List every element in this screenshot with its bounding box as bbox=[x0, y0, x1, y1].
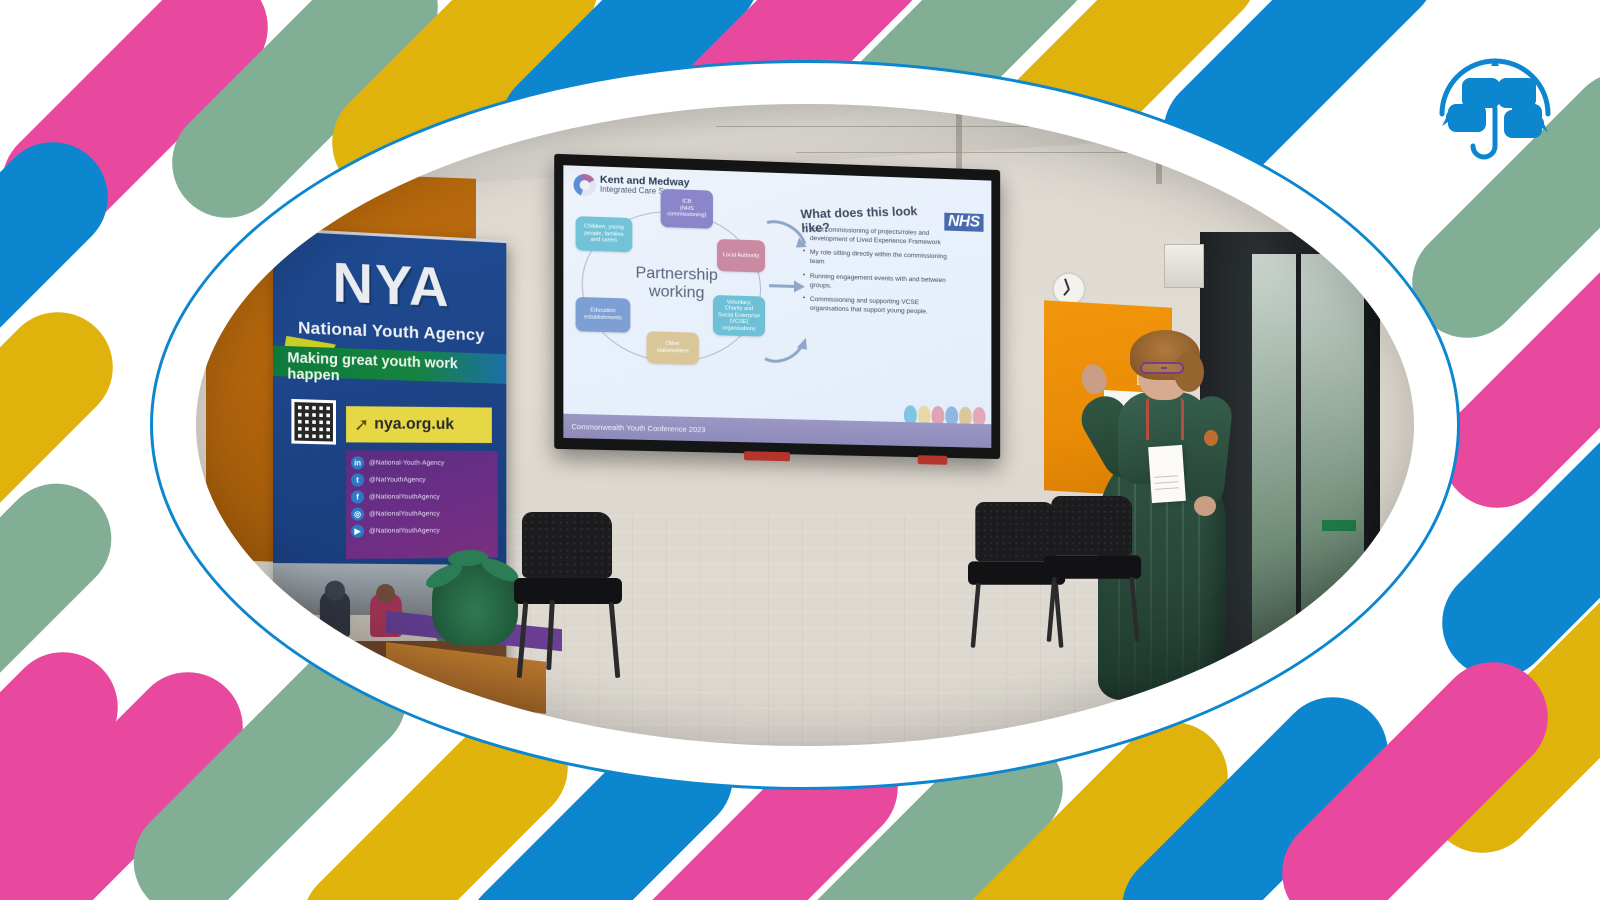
website-pill: ➚ nya.org.uk bbox=[346, 406, 492, 443]
list-item: Commissioning and supporting VCSE organi… bbox=[803, 296, 959, 318]
screen-sensor-bar bbox=[744, 451, 790, 461]
presenter-hand bbox=[1079, 362, 1110, 397]
node-other: Other stakeholders bbox=[647, 331, 699, 365]
node-vcse: Voluntary, Charity and Social Enterprise… bbox=[713, 295, 765, 337]
slide-footer-text: Commonwealth Youth Conference 2023 bbox=[572, 421, 706, 433]
door-mullion bbox=[1296, 254, 1301, 654]
umbrella-speech-bubbles-logo bbox=[1430, 42, 1560, 166]
qr-code-icon bbox=[291, 399, 336, 445]
slide-content: Kent and Medway Integrated Care System N… bbox=[563, 165, 991, 448]
node-children: Children, young people, families and car… bbox=[576, 216, 633, 252]
presenter-glasses bbox=[1140, 362, 1184, 374]
linkedin-icon: in bbox=[351, 456, 364, 469]
list-item: ▶ @NationalYouthAgency bbox=[351, 524, 493, 538]
social-handle: @NationalYouthAgency bbox=[369, 527, 440, 534]
screen-sensor-bar bbox=[918, 455, 948, 465]
arrow-icon bbox=[767, 277, 807, 296]
list-item: ◎ @NationalYouthAgency bbox=[351, 507, 493, 520]
list-item: My role sitting directly within the comm… bbox=[803, 249, 959, 271]
presentation-screen: Kent and Medway Integrated Care System N… bbox=[554, 154, 1000, 459]
node-local-authority: Local Authority bbox=[717, 239, 765, 273]
cursor-icon: ➚ bbox=[354, 414, 369, 435]
presenter-lanyard bbox=[1146, 398, 1184, 440]
arrow-icon bbox=[763, 331, 811, 366]
youtube-icon: ▶ bbox=[351, 525, 364, 538]
list-item: f @NationalYouthAgency bbox=[351, 491, 493, 504]
poster-canvas: NYA National Youth Agency Making great y… bbox=[0, 0, 1600, 900]
fire-exit-sign bbox=[1322, 520, 1356, 531]
nya-logo-text: NYA bbox=[295, 253, 486, 315]
social-handle: @NationalYouthAgency bbox=[369, 494, 440, 501]
twitter-icon: t bbox=[351, 473, 364, 486]
social-handles-list: in @National-Youth-Agency t @NatYouthAge… bbox=[346, 450, 498, 559]
potted-plant bbox=[432, 556, 518, 646]
node-icb: ICB (NHS commissioning) bbox=[661, 189, 713, 229]
conference-photo: NYA National Youth Agency Making great y… bbox=[196, 104, 1414, 746]
presenter-hand bbox=[1194, 496, 1216, 516]
nya-website: nya.org.uk bbox=[374, 415, 454, 433]
presenter-dress-floral bbox=[1204, 430, 1218, 446]
social-handle: @NationalYouthAgency bbox=[369, 510, 440, 517]
nhs-logo: NHS bbox=[944, 213, 983, 232]
social-handle: @NatYouthAgency bbox=[369, 476, 426, 483]
social-handle: @National-Youth-Agency bbox=[369, 459, 444, 466]
nya-tagline: Making great youth work happen bbox=[287, 350, 500, 389]
list-item: Running engagement events with and betwe… bbox=[803, 273, 959, 295]
facebook-icon: f bbox=[351, 491, 364, 504]
list-item: in @National-Youth-Agency bbox=[351, 456, 493, 470]
ceiling-speaker bbox=[1164, 244, 1204, 288]
instagram-icon: ◎ bbox=[351, 508, 364, 521]
node-education: Education establishments bbox=[576, 297, 631, 333]
kent-medway-mark-icon bbox=[574, 174, 596, 197]
presenter-notes bbox=[1148, 445, 1186, 503]
slide-bullet-list: Joint commissioning of projects/roles an… bbox=[803, 226, 959, 324]
list-item: t @NatYouthAgency bbox=[351, 473, 493, 486]
